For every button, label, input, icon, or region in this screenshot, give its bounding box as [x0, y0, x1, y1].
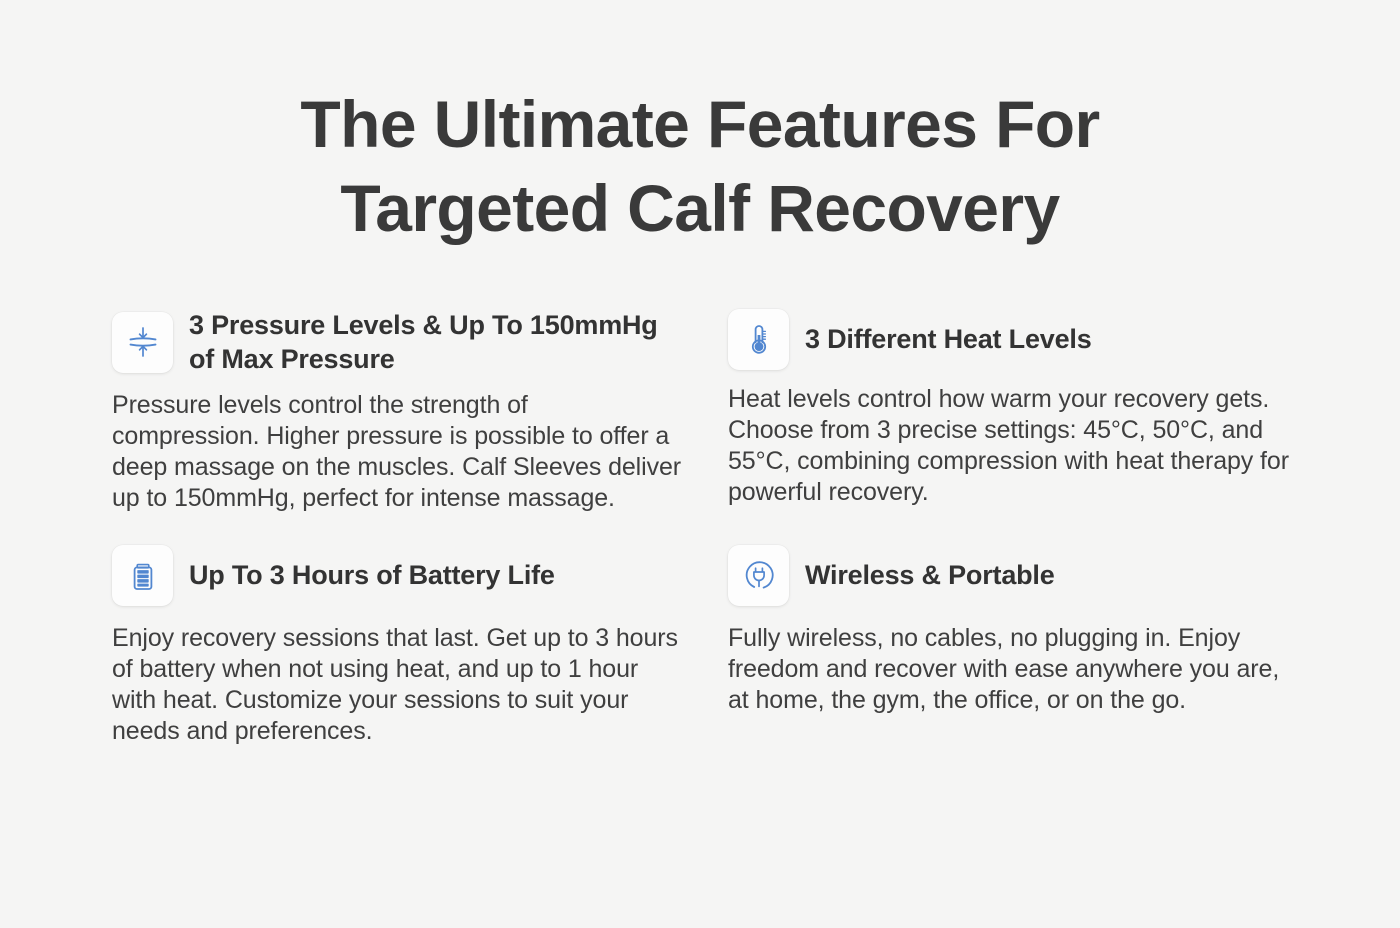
feature-header: Up To 3 Hours of Battery Life	[112, 544, 682, 606]
compression-arrows-icon	[112, 312, 173, 373]
page-title-line-1: The Ultimate Features For	[0, 82, 1400, 166]
features-grid: 3 Pressure Levels & Up To 150mmHg of Max…	[112, 308, 1292, 747]
feature-description: Heat levels control how warm your recove…	[728, 384, 1298, 508]
feature-title: Up To 3 Hours of Battery Life	[189, 558, 555, 592]
features-page: The Ultimate Features For Targeted Calf …	[0, 0, 1400, 928]
feature-description: Pressure levels control the strength of …	[112, 390, 682, 514]
page-title: The Ultimate Features For Targeted Calf …	[0, 0, 1400, 250]
feature-card-wireless: Wireless & Portable Fully wireless, no c…	[728, 544, 1298, 747]
battery-icon	[112, 545, 173, 606]
page-title-line-2: Targeted Calf Recovery	[0, 166, 1400, 250]
feature-card-heat: 3 Different Heat Levels Heat levels cont…	[728, 308, 1298, 514]
feature-header: Wireless & Portable	[728, 544, 1298, 606]
feature-card-battery: Up To 3 Hours of Battery Life Enjoy reco…	[112, 544, 682, 747]
thermometer-icon	[728, 309, 789, 370]
feature-header: 3 Different Heat Levels	[728, 308, 1298, 370]
feature-header: 3 Pressure Levels & Up To 150mmHg of Max…	[112, 308, 682, 376]
feature-title: Wireless & Portable	[805, 558, 1055, 592]
wireless-plug-icon	[728, 545, 789, 606]
feature-card-pressure: 3 Pressure Levels & Up To 150mmHg of Max…	[112, 308, 682, 514]
feature-description: Enjoy recovery sessions that last. Get u…	[112, 623, 682, 747]
feature-title: 3 Pressure Levels & Up To 150mmHg of Max…	[189, 308, 682, 376]
feature-title: 3 Different Heat Levels	[805, 322, 1092, 356]
feature-description: Fully wireless, no cables, no plugging i…	[728, 623, 1298, 716]
